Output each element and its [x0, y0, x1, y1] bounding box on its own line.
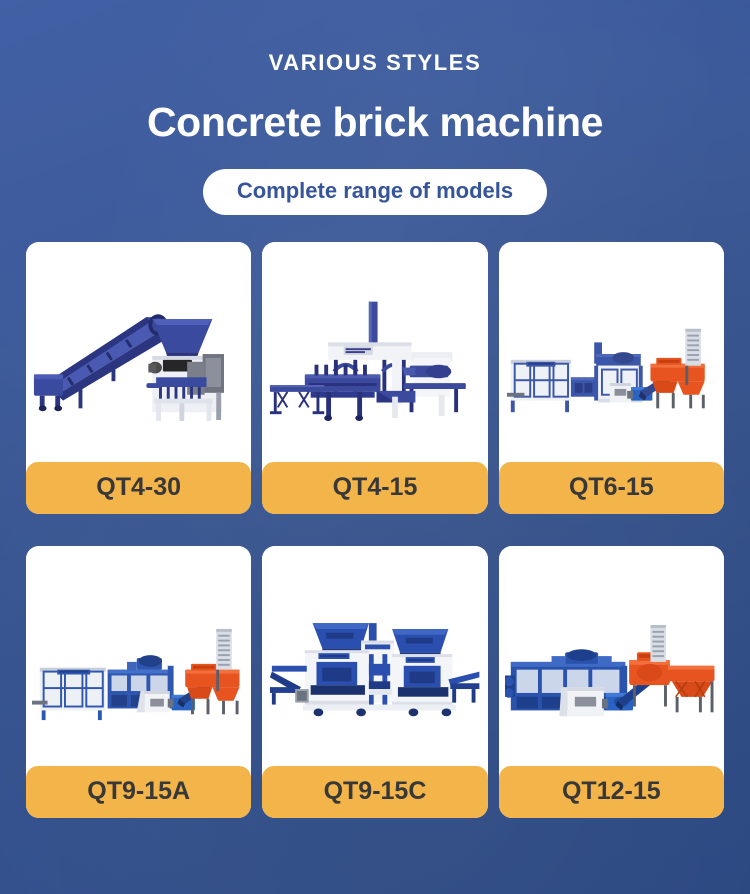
product-card-qt9-15a[interactable]: QT9-15A: [26, 546, 251, 818]
product-card-qt12-15[interactable]: QT12-15: [499, 546, 724, 818]
product-label-qt4-15: QT4-15: [262, 462, 487, 514]
product-card-qt4-30[interactable]: QT4-30: [26, 242, 251, 514]
product-card-qt4-15[interactable]: QT4-15: [262, 242, 487, 514]
product-label-qt6-15: QT6-15: [499, 462, 724, 514]
product-label-qt9-15c: QT9-15C: [262, 766, 487, 818]
page-title: Concrete brick machine: [0, 102, 750, 143]
product-image-qt9-15a: [26, 546, 251, 766]
product-image-qt4-30: [26, 242, 251, 462]
production-line-icon: [505, 248, 718, 462]
twin-hopper-press-icon: [268, 552, 481, 766]
banner-eyebrow: VARIOUS STYLES: [0, 52, 750, 74]
product-card-qt6-15[interactable]: QT6-15: [499, 242, 724, 514]
product-grid: QT4-30: [26, 242, 724, 818]
product-card-qt9-15c[interactable]: QT9-15C: [262, 546, 487, 818]
product-image-qt9-15c: [262, 546, 487, 766]
banner-header: VARIOUS STYLES Concrete brick machine Co…: [0, 0, 750, 215]
press-block-machine-icon: [268, 248, 481, 462]
conveyor-block-machine-icon: [32, 248, 245, 462]
production-line-icon: [32, 552, 245, 766]
promo-banner: VARIOUS STYLES Concrete brick machine Co…: [0, 0, 750, 894]
product-image-qt4-15: [262, 242, 487, 462]
complete-range-badge: Complete range of models: [203, 169, 547, 215]
product-label-qt9-15a: QT9-15A: [26, 766, 251, 818]
product-label-qt4-30: QT4-30: [26, 462, 251, 514]
product-label-qt12-15: QT12-15: [499, 766, 724, 818]
production-line-icon: [505, 552, 718, 766]
product-image-qt12-15: [499, 546, 724, 766]
product-image-qt6-15: [499, 242, 724, 462]
banner-pill-row: Complete range of models: [0, 169, 750, 215]
